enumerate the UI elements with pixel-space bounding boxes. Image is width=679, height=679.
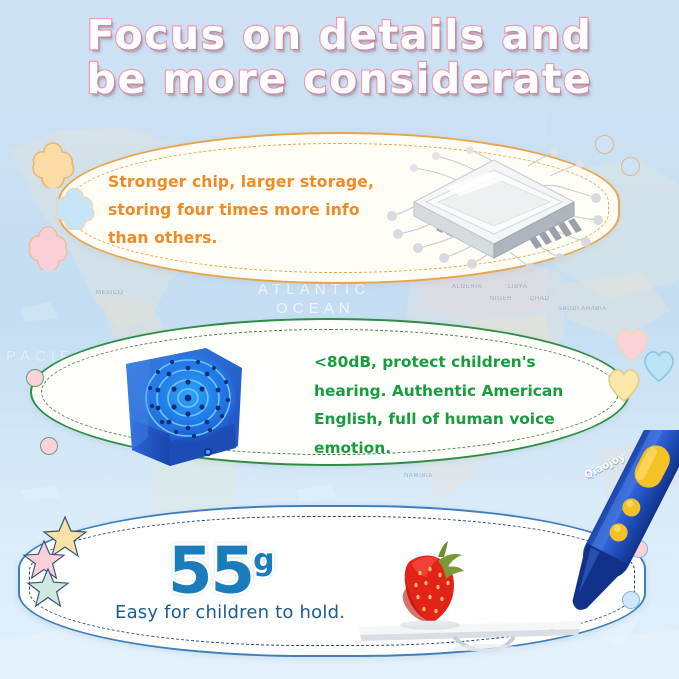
dot-decoration-pink-2 <box>40 437 58 455</box>
dot-decoration-blue-1 <box>595 135 614 154</box>
weight-value: 55g <box>168 529 275 603</box>
headline-line-1: Focus on details and <box>0 14 679 56</box>
feature-card-audio[interactable]: <80dB, protect children's hearing. Authe… <box>30 318 630 466</box>
headline-line-2: be more considerate <box>0 58 679 100</box>
speaker-device-icon <box>110 342 256 470</box>
microchip-icon <box>384 142 604 278</box>
promo-banner: ATLANTIC OCEAN MEXICO ALGERIA LIBYA SAUD… <box>0 0 679 679</box>
dot-decoration-pink-1 <box>26 369 44 387</box>
feature-text-weight: Easy for children to hold. <box>115 602 345 623</box>
weight-unit: g <box>253 543 274 578</box>
strawberry-on-scale-icon <box>350 527 590 651</box>
dot-decoration-blue-2 <box>621 157 640 176</box>
feature-card-weight[interactable]: 55g Easy for children to hold. <box>18 505 646 657</box>
weight-number: 55 <box>168 534 253 608</box>
headline: Focus on details and be more considerate <box>0 14 679 100</box>
feature-text-chip: Stronger chip, larger storage, storing f… <box>108 168 398 252</box>
feature-card-chip[interactable]: Stronger chip, larger storage, storing f… <box>58 132 620 284</box>
